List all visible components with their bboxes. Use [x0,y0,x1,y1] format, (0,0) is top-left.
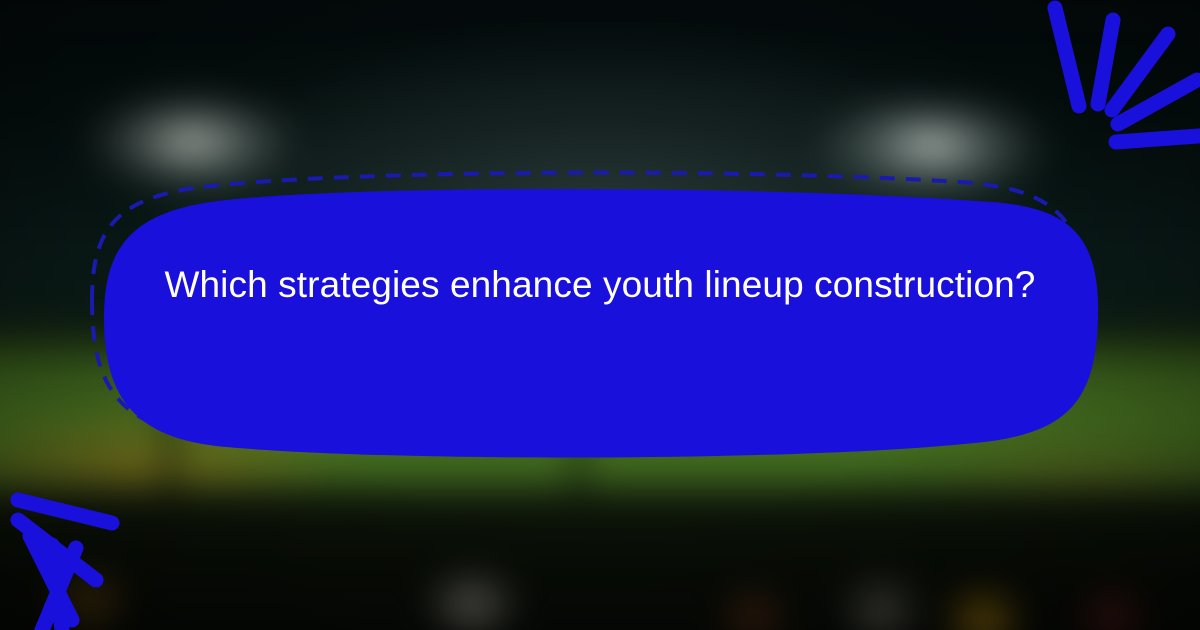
spark-burst-top-right [1055,8,1200,142]
spark-decorations [0,0,1200,630]
spark-burst-bottom-left [18,500,112,630]
social-card: Which strategies enhance youth lineup co… [0,0,1200,630]
